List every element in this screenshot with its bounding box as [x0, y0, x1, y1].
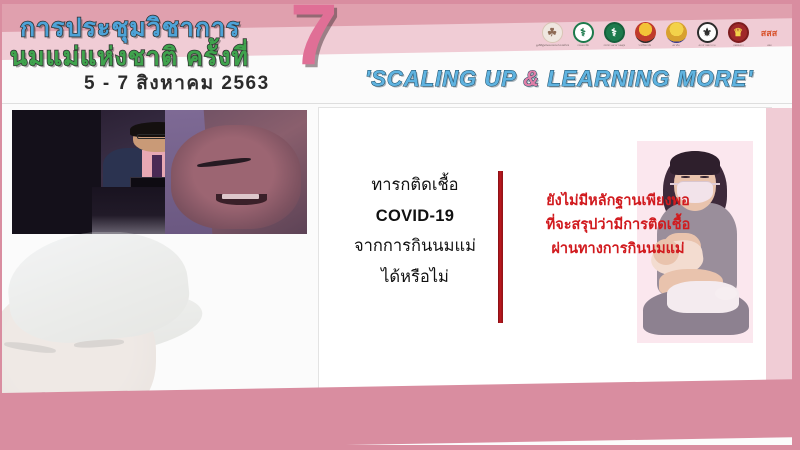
tagline-ampersand: &	[523, 66, 540, 91]
logo-caption: สถาบัน	[672, 44, 679, 48]
logo-medical-council: ♛ แพทยสภา	[725, 22, 751, 52]
baby-video-inset	[165, 110, 307, 234]
question-line-3: จากการกินนมแม่	[331, 231, 499, 262]
logo-department-of-health: ⚕ กระทรวงสาธารณสุข	[601, 22, 627, 52]
medical-council-icon: ♛	[728, 22, 749, 43]
baby-teeth	[222, 194, 259, 198]
conference-date: 5 - 7 สิงหาคม 2563	[84, 68, 270, 98]
department-health-icon: ⚕	[604, 22, 625, 43]
mother-eye-right	[700, 176, 709, 178]
question-text: ทารกติดเชื้อ COVID-19 จากการกินนมแม่ ได้…	[331, 170, 499, 292]
conference-edition-number: 7	[290, 4, 338, 78]
right-pink-strip	[766, 108, 792, 398]
infant-foot	[715, 287, 737, 300]
logo-caption: สสส	[767, 44, 771, 48]
question-line-2: COVID-19	[331, 201, 499, 232]
logo-caption: แพทยสภา	[733, 44, 743, 48]
header-divider-rule	[2, 103, 792, 104]
royal-institute-icon	[666, 22, 687, 43]
logo-royal-college: ราชวิทยาลัย	[632, 22, 658, 52]
conference-tagline: 'SCALING UP & LEARNING MORE'	[365, 66, 753, 92]
logo-caption: กรมอนามัย	[577, 44, 589, 48]
logo-caption: สภาการพยาบาล	[698, 44, 715, 48]
public-health-icon: ⚕	[573, 22, 594, 43]
logo-nursing-council: ⚜ สภาการพยาบาล	[694, 22, 720, 52]
organization-logo-row: ☘ มูลนิธิศูนย์นมแม่แห่งประเทศไทย ⚕ กรมอน…	[539, 22, 782, 52]
logo-caption: มูลนิธิศูนย์นมแม่แห่งประเทศไทย	[535, 44, 568, 48]
logo-thai-breastfeeding-foundation: ☘ มูลนิธิศูนย์นมแม่แห่งประเทศไทย	[539, 22, 565, 52]
answer-line-2: ที่จะสรุปว่ามีการติดเชื้อ	[511, 214, 725, 238]
question-line-4: ได้หรือไม่	[331, 262, 499, 293]
stage-dark-area	[12, 110, 101, 234]
answer-line-1: ยังไม่มีหลักฐานเพียงพอ	[511, 190, 725, 214]
slide-canvas: การประชุมวิชาการ นมแม่แห่งชาติ ครั้งที่ …	[2, 4, 792, 445]
thai-health-icon: สสส	[759, 22, 780, 43]
logo-ministry-of-public-health: ⚕ กรมอนามัย	[570, 22, 596, 52]
answer-line-3: ผ่านทางการกินนมแม่	[511, 238, 725, 262]
nursing-council-icon: ⚜	[697, 22, 718, 43]
logo-caption: กระทรวงสาธารณสุข	[603, 44, 624, 48]
royal-college-icon	[635, 22, 656, 43]
logo-caption: ราชวิทยาลัย	[639, 44, 652, 48]
tagline-part1: 'SCALING UP	[365, 66, 523, 91]
breastfeeding-foundation-icon: ☘	[542, 22, 563, 43]
slide-content-card: ทารกติดเชื้อ COVID-19 จากการกินนมแม่ ได้…	[318, 107, 772, 397]
mother-eye-left	[681, 176, 690, 178]
red-vertical-divider	[498, 171, 503, 323]
conference-speaker-video	[12, 110, 307, 234]
logo-royal-institute: สถาบัน	[663, 22, 689, 52]
baby-face	[171, 125, 301, 229]
question-line-1: ทารกติดเชื้อ	[331, 170, 499, 201]
answer-text: ยังไม่มีหลักฐานเพียงพอ ที่จะสรุปว่ามีการ…	[511, 190, 725, 262]
mother-hair-top	[670, 151, 720, 175]
speaker-tie	[152, 155, 162, 180]
slide-frame: การประชุมวิชาการ นมแม่แห่งชาติ ครั้งที่ …	[0, 0, 800, 450]
logo-thai-health-promotion: สสส สสส	[756, 22, 782, 52]
tagline-part2: LEARNING MORE'	[540, 66, 753, 91]
